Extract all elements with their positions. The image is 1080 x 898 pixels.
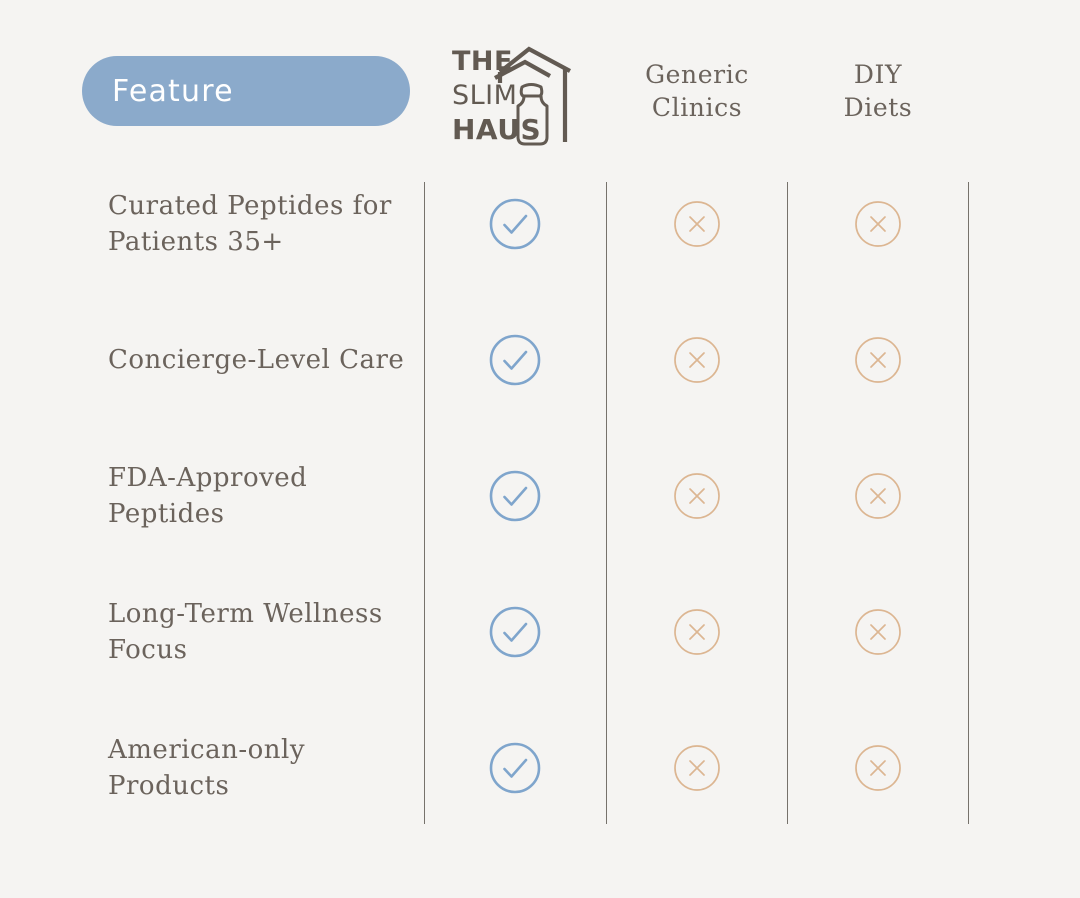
check-circle-icon [486,603,544,661]
feature-label: Curated Peptides for Patients 35+ [108,156,408,292]
table-row: Long-Term Wellness Focus [0,564,1080,700]
check-circle-icon [486,195,544,253]
column-header-diy-line-2: Diets [778,91,978,124]
x-circle-icon [852,470,904,522]
feature-label: American-only Products [108,700,408,836]
x-circle-icon [671,470,723,522]
cell-generic-clinics [607,700,787,836]
cell-brand [425,292,605,428]
the-slim-haus-logo: THE SLIM HAUS [452,38,576,150]
cell-brand [425,156,605,292]
feature-label: Long-Term Wellness Focus [108,564,408,700]
cell-diy-diets [788,428,968,564]
x-circle-icon [671,198,723,250]
table-row: FDA-Approved Peptides [0,428,1080,564]
cell-brand [425,428,605,564]
check-circle-icon [486,467,544,525]
cell-generic-clinics [607,156,787,292]
feature-column-label: Feature [82,74,234,109]
check-circle-icon [486,739,544,797]
column-header-generic-line-1: Generic [597,58,797,91]
cell-brand [425,700,605,836]
cell-diy-diets [788,564,968,700]
cell-generic-clinics [607,564,787,700]
table-row: American-only Products [0,700,1080,836]
x-circle-icon [852,742,904,794]
feature-label: FDA-Approved Peptides [108,428,408,564]
cell-generic-clinics [607,428,787,564]
x-circle-icon [852,606,904,658]
feature-comparison-table: Feature [0,0,1080,898]
cell-diy-diets [788,292,968,428]
column-header-diy-line-1: DIY [778,58,978,91]
cell-diy-diets [788,700,968,836]
logo-line-slim: SLIM [452,80,517,111]
column-header-diy-diets: DIY Diets [778,58,978,124]
table-row: Curated Peptides for Patients 35+ [0,156,1080,292]
feature-label: Concierge-Level Care [108,292,408,428]
column-header-generic-line-2: Clinics [597,91,797,124]
cell-generic-clinics [607,292,787,428]
table-row: Concierge-Level Care [0,292,1080,428]
table-header-row: Feature [0,0,1080,170]
logo-line-the: THE [452,46,513,77]
logo-line-haus: HAUS [452,113,541,146]
x-circle-icon [671,606,723,658]
x-circle-icon [671,742,723,794]
cell-brand [425,564,605,700]
check-circle-icon [486,331,544,389]
x-circle-icon [852,198,904,250]
x-circle-icon [671,334,723,386]
feature-column-pill: Feature [82,56,410,126]
column-header-generic-clinics: Generic Clinics [597,58,797,124]
cell-diy-diets [788,156,968,292]
x-circle-icon [852,334,904,386]
